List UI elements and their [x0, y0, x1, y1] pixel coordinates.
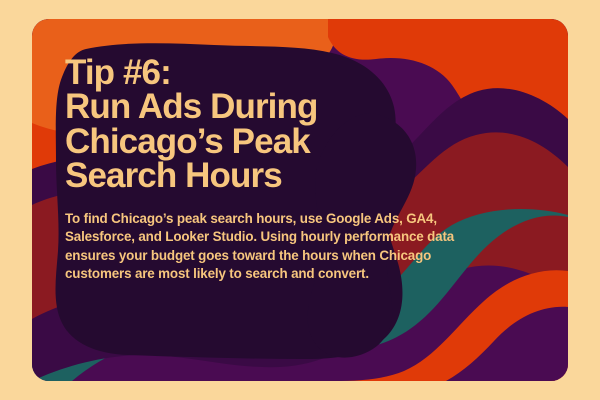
- card-content: Tip #6: Run Ads During Chicago’s Peak Se…: [65, 56, 485, 283]
- tip-card: Tip #6: Run Ads During Chicago’s Peak Se…: [32, 19, 568, 381]
- poster-canvas: Tip #6: Run Ads During Chicago’s Peak Se…: [0, 0, 600, 400]
- body-paragraph: To find Chicago’s peak search hours, use…: [65, 194, 465, 283]
- page-title: Tip #6: Run Ads During Chicago’s Peak Se…: [65, 56, 485, 194]
